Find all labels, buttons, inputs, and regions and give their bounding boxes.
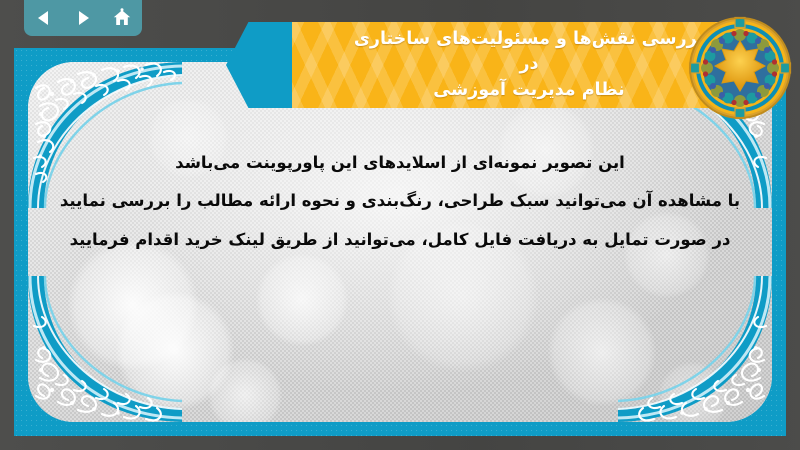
triangle-right-icon (74, 9, 92, 27)
bokeh-circle (256, 254, 348, 346)
banner-body: بررسی نقش‌ها و مسئولیت‌های ساختاری در نظ… (292, 22, 726, 108)
home-button[interactable] (107, 5, 137, 31)
body-line: در صورت تمایل به دریافت فایل کامل، می‌تو… (54, 221, 746, 259)
bokeh-circle (208, 358, 282, 422)
title-line-1: بررسی نقش‌ها و مسئولیت‌های ساختاری در (354, 29, 704, 74)
slide-stage: این تصویر نمونه‌ای از اسلایدهای این پاور… (0, 0, 800, 450)
title-banner: بررسی نقش‌ها و مسئولیت‌های ساختاری در نظ… (226, 22, 726, 108)
slide-body-text: این تصویر نمونه‌ای از اسلایدهای این پاور… (54, 144, 746, 259)
ornamental-medallion (688, 16, 792, 120)
body-line: با مشاهده آن می‌توانید سبک طراحی، رنگ‌بن… (54, 182, 746, 220)
page-title: بررسی نقش‌ها و مسئولیت‌های ساختاری در نظ… (292, 27, 726, 103)
title-line-2: نظام مدیریت آموزشی (433, 80, 625, 100)
navigation-bar (24, 0, 142, 36)
next-slide-button[interactable] (68, 5, 98, 31)
home-icon (112, 8, 132, 28)
triangle-left-icon (35, 9, 53, 27)
bokeh-circle (548, 298, 656, 406)
banner-arrow-shape (226, 22, 292, 108)
body-line: این تصویر نمونه‌ای از اسلایدهای این پاور… (54, 144, 746, 182)
previous-slide-button[interactable] (29, 5, 59, 31)
